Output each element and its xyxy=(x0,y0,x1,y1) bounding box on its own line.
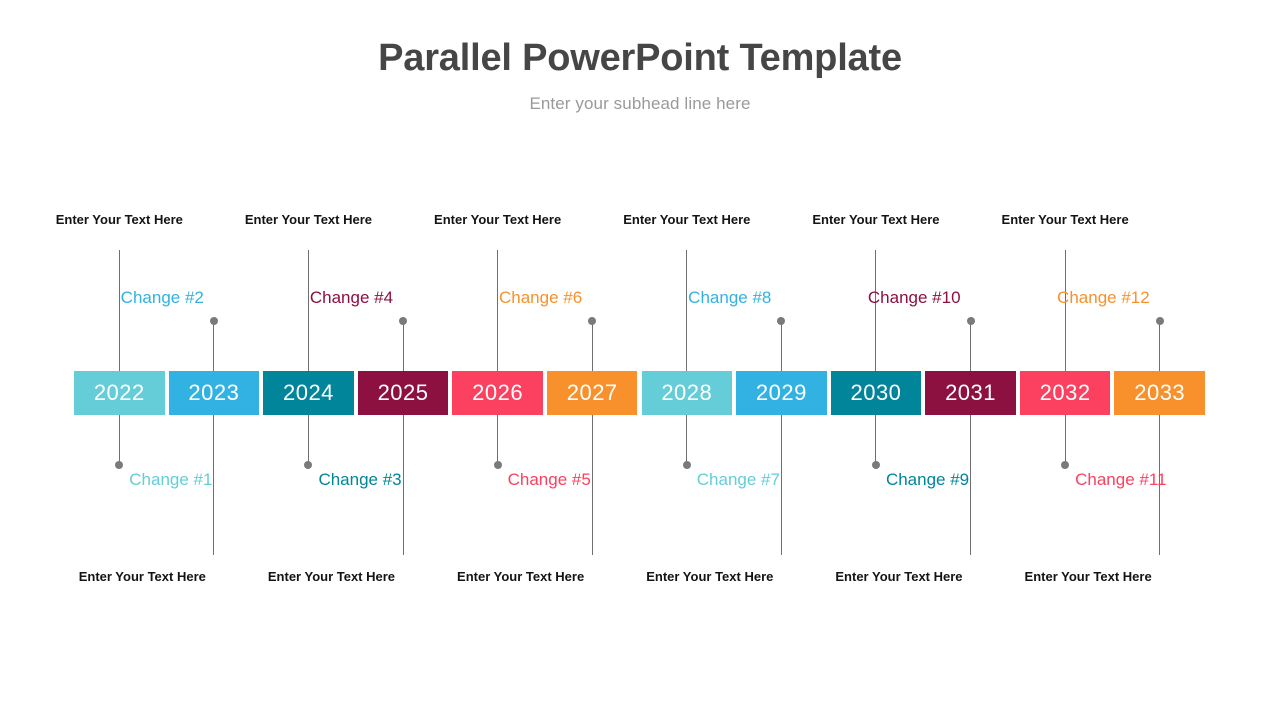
milestone-dot xyxy=(1061,461,1069,469)
change-label: Change #12 xyxy=(900,289,1160,306)
year-block[interactable]: 2022 xyxy=(72,371,167,415)
year-label: 2033 xyxy=(1134,382,1185,404)
timeline-chart: Change #1Enter Your Text Here2022Change … xyxy=(72,190,1207,600)
year-block[interactable]: 2033 xyxy=(1112,371,1207,415)
year-label: 2024 xyxy=(283,382,334,404)
connector-line-long xyxy=(781,415,782,555)
connector-line-short xyxy=(119,415,120,465)
connector-line-long xyxy=(308,250,309,371)
connector-line-short xyxy=(497,415,498,465)
connector-line-long xyxy=(970,415,971,555)
enter-text-label: Enter Your Text Here xyxy=(880,570,1160,583)
timeline-segment[interactable]: Change #7Enter Your Text Here2028 xyxy=(640,190,735,600)
milestone-dot xyxy=(967,317,975,325)
year-label: 2026 xyxy=(472,382,523,404)
milestone-dot xyxy=(115,461,123,469)
connector-line-short xyxy=(970,321,971,371)
year-block[interactable]: 2027 xyxy=(545,371,640,415)
year-label: 2031 xyxy=(945,382,996,404)
milestone-dot xyxy=(777,317,785,325)
year-label: 2022 xyxy=(94,382,145,404)
page-title: Parallel PowerPoint Template xyxy=(0,38,1280,80)
year-block[interactable]: 2031 xyxy=(923,371,1018,415)
connector-line-long xyxy=(119,250,120,371)
milestone-dot xyxy=(1156,317,1164,325)
timeline-segment[interactable]: Change #9Enter Your Text Here2030 xyxy=(829,190,924,600)
timeline-segment[interactable]: Change #10Enter Your Text Here2031 xyxy=(923,190,1018,600)
timeline-segment[interactable]: Change #12Enter Your Text Here2033 xyxy=(1112,190,1207,600)
milestone-dot xyxy=(494,461,502,469)
year-block[interactable]: 2026 xyxy=(450,371,545,415)
year-label: 2030 xyxy=(850,382,901,404)
timeline-segment[interactable]: Change #3Enter Your Text Here2024 xyxy=(261,190,356,600)
connector-line-long xyxy=(213,415,214,555)
milestone-dot xyxy=(872,461,880,469)
timeline-segment[interactable]: Change #2Enter Your Text Here2023 xyxy=(167,190,262,600)
year-block[interactable]: 2030 xyxy=(829,371,924,415)
connector-line-short xyxy=(875,415,876,465)
connector-line-short xyxy=(1065,415,1066,465)
year-label: 2029 xyxy=(756,382,807,404)
connector-line-short xyxy=(592,321,593,371)
year-block[interactable]: 2028 xyxy=(640,371,735,415)
connector-line-short xyxy=(686,415,687,465)
year-block[interactable]: 2025 xyxy=(356,371,451,415)
connector-line-long xyxy=(875,250,876,371)
slide-header: Parallel PowerPoint Template Enter your … xyxy=(0,38,1280,114)
connector-line-long xyxy=(1065,250,1066,371)
timeline-segment[interactable]: Change #4Enter Your Text Here2025 xyxy=(356,190,451,600)
year-block[interactable]: 2024 xyxy=(261,371,356,415)
year-block[interactable]: 2023 xyxy=(167,371,262,415)
connector-line-long xyxy=(592,415,593,555)
connector-line-short xyxy=(1159,321,1160,371)
connector-line-long xyxy=(1159,415,1160,555)
connector-line-long xyxy=(403,415,404,555)
year-block[interactable]: 2032 xyxy=(1018,371,1113,415)
year-label: 2028 xyxy=(661,382,712,404)
year-label: 2025 xyxy=(378,382,429,404)
timeline-segment[interactable]: Change #5Enter Your Text Here2026 xyxy=(450,190,545,600)
connector-line-long xyxy=(686,250,687,371)
connector-line-short xyxy=(308,415,309,465)
timeline-segment[interactable]: Change #6Enter Your Text Here2027 xyxy=(545,190,640,600)
milestone-dot xyxy=(399,317,407,325)
connector-line-short xyxy=(213,321,214,371)
year-label: 2023 xyxy=(188,382,239,404)
timeline-segment[interactable]: Change #11Enter Your Text Here2032 xyxy=(1018,190,1113,600)
connector-line-short xyxy=(403,321,404,371)
milestone-dot xyxy=(683,461,691,469)
milestone-dot xyxy=(210,317,218,325)
year-block[interactable]: 2029 xyxy=(734,371,829,415)
timeline-segment[interactable]: Change #8Enter Your Text Here2029 xyxy=(734,190,829,600)
year-label: 2032 xyxy=(1040,382,1091,404)
connector-line-short xyxy=(781,321,782,371)
page-subtitle: Enter your subhead line here xyxy=(0,94,1280,114)
year-label: 2027 xyxy=(567,382,618,404)
connector-line-long xyxy=(497,250,498,371)
timeline-segment[interactable]: Change #1Enter Your Text Here2022 xyxy=(72,190,167,600)
milestone-dot xyxy=(304,461,312,469)
milestone-dot xyxy=(588,317,596,325)
